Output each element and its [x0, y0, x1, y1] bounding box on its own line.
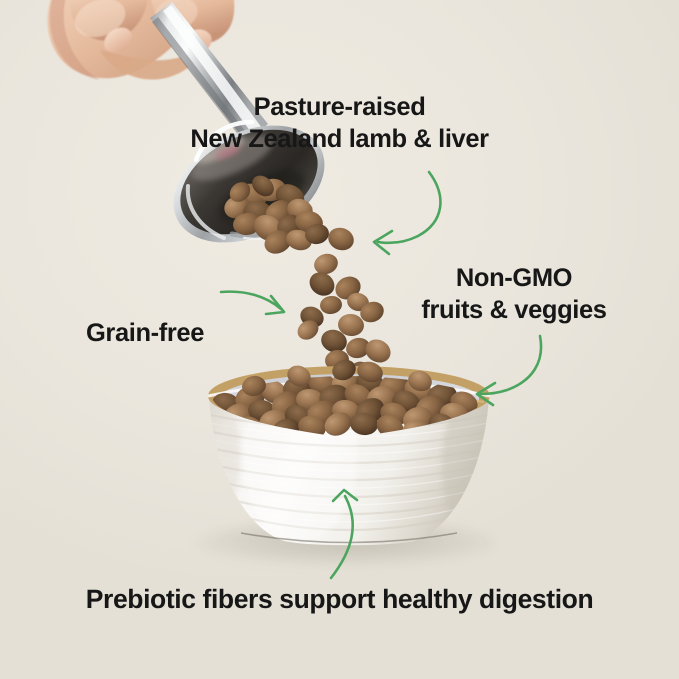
label-pasture-raised-line2: New Zealand lamb & liver: [0, 123, 679, 155]
label-non-gmo-line1: Non-GMO: [456, 264, 572, 292]
label-prebiotic-fibers: Prebiotic fibers support healthy digesti…: [0, 583, 679, 616]
label-non-gmo: Non-GMO fruits & veggies: [349, 262, 679, 326]
label-pasture-raised-line1: Pasture-raised: [254, 93, 426, 121]
label-pasture-raised: Pasture-raised New Zealand lamb & liver: [0, 91, 679, 155]
label-non-gmo-line2: fruits & veggies: [421, 296, 606, 324]
label-grain-free: Grain-free: [0, 317, 290, 349]
product-infographic: Pasture-raised New Zealand lamb & liver …: [0, 0, 679, 679]
